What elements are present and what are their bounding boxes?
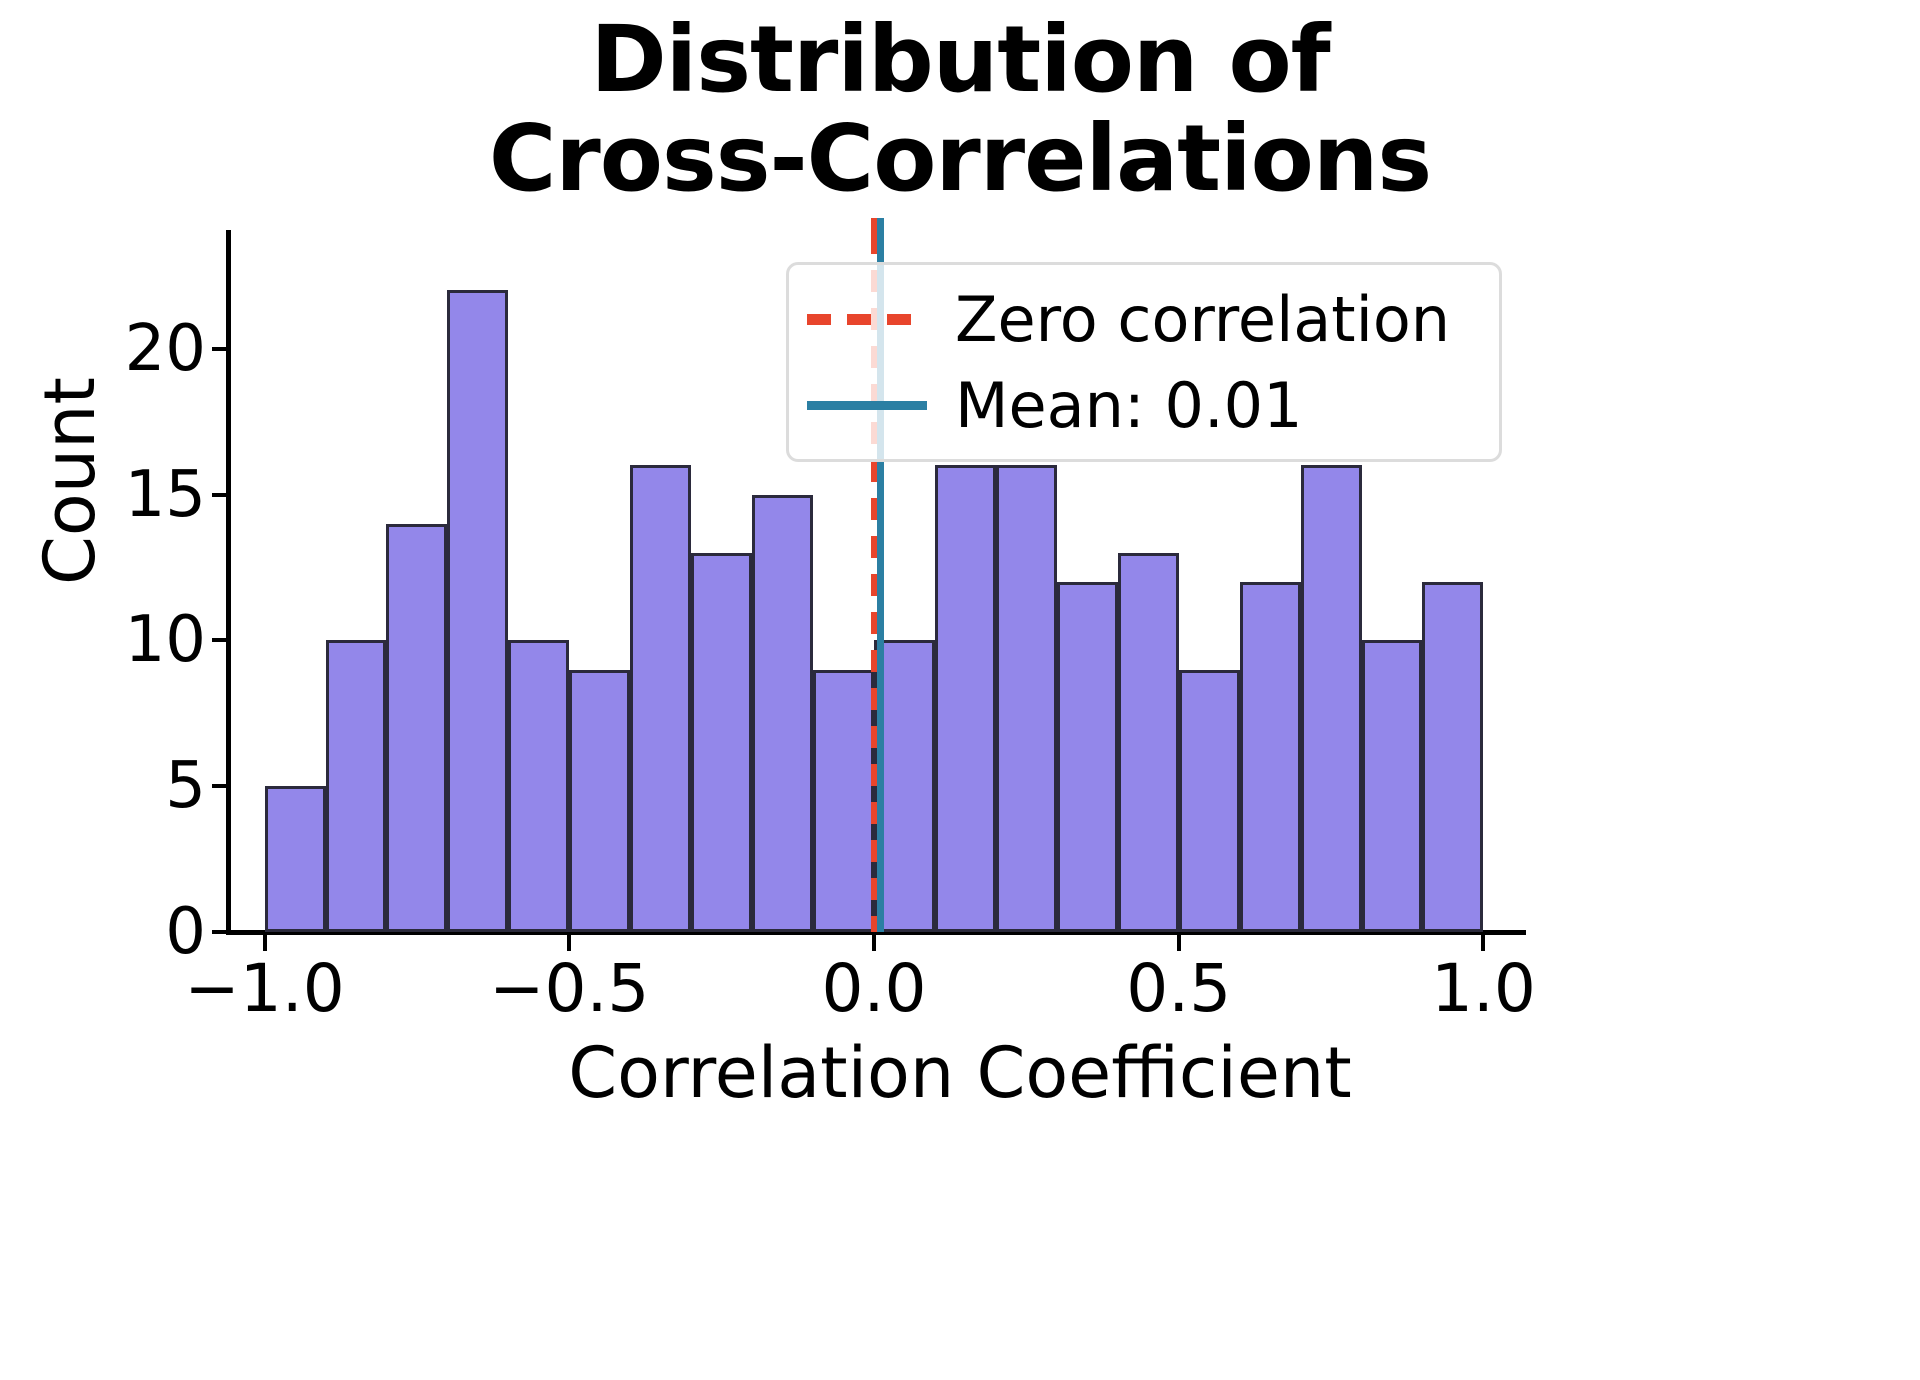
- histogram-bar: [508, 640, 569, 932]
- y-tick-mark: [212, 638, 226, 642]
- x-tick-label: −0.5: [489, 950, 649, 1027]
- x-tick-mark: [567, 935, 571, 951]
- y-tick-mark: [212, 930, 226, 934]
- histogram-bar: [265, 786, 326, 932]
- histogram-bar: [935, 465, 996, 932]
- histogram-bar: [1422, 582, 1483, 932]
- x-tick-label: 0.5: [1126, 950, 1231, 1027]
- x-tick-mark: [263, 935, 267, 951]
- histogram-bar: [447, 290, 508, 932]
- legend-item-zero-correlation: Zero correlation: [807, 276, 1481, 362]
- dashed-line-icon: [807, 314, 927, 325]
- histogram-bar: [1179, 670, 1240, 933]
- y-tick-mark: [212, 347, 226, 351]
- histogram-bar: [813, 670, 874, 933]
- mean-line-overshoot: [877, 218, 884, 232]
- histogram-bar: [386, 524, 447, 932]
- x-tick-mark: [1177, 935, 1181, 951]
- x-tick-mark: [1481, 935, 1485, 951]
- y-tick-mark: [212, 493, 226, 497]
- chart-legend: Zero correlation Mean: 0.01: [786, 262, 1502, 462]
- legend-label-mean: Mean: 0.01: [955, 369, 1303, 442]
- legend-item-mean: Mean: 0.01: [807, 362, 1481, 448]
- histogram-bar: [1057, 582, 1118, 932]
- histogram-bar: [630, 465, 691, 932]
- x-tick-mark: [872, 935, 876, 951]
- x-tick-label: 1.0: [1431, 950, 1536, 1027]
- x-axis-label: Correlation Coefficient: [0, 1032, 1920, 1114]
- page-title: Distribution of Cross-Correlations: [0, 10, 1920, 209]
- y-tick-label: 20: [125, 312, 206, 386]
- histogram-bar: [996, 465, 1057, 932]
- histogram-bar: [752, 495, 813, 933]
- y-tick-mark: [212, 784, 226, 788]
- histogram-bar: [691, 553, 752, 932]
- y-tick-label: 10: [125, 603, 206, 677]
- legend-label-zero-correlation: Zero correlation: [955, 283, 1450, 356]
- y-axis-label: Count: [29, 201, 111, 761]
- histogram-bar: [1118, 553, 1179, 932]
- histogram-bar: [1240, 582, 1301, 932]
- histogram-bar: [1301, 465, 1362, 932]
- y-tick-label: 15: [125, 458, 206, 532]
- histogram-bar: [326, 640, 387, 932]
- x-tick-label: −1.0: [184, 950, 344, 1027]
- histogram-bar: [569, 670, 630, 933]
- solid-line-icon: [807, 401, 927, 410]
- y-tick-label: 5: [165, 749, 206, 823]
- histogram-bar: [1362, 640, 1423, 932]
- x-tick-label: 0.0: [822, 950, 927, 1027]
